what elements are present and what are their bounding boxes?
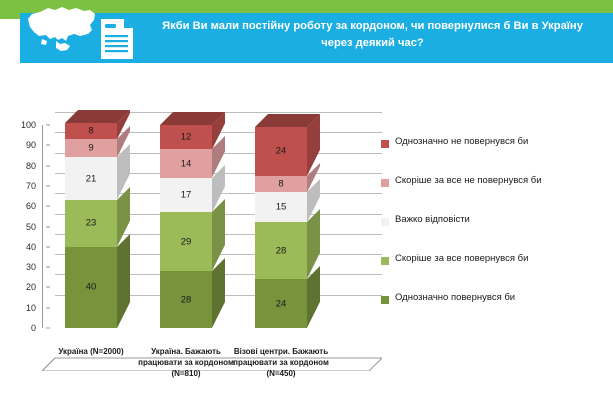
y-axis-tick-mark <box>46 226 50 227</box>
y-axis-tick-mark <box>46 307 50 308</box>
legend-color-swatch <box>381 179 389 187</box>
bar-segment[interactable]: 15 <box>255 192 307 222</box>
y-axis-tick-mark <box>46 267 50 268</box>
bar-segment-value: 8 <box>65 126 117 137</box>
x-axis-category-label: Україна (N=2000) <box>37 346 145 357</box>
ukraine-map-icon <box>22 3 100 57</box>
legend-color-swatch <box>381 257 389 265</box>
legend-color-swatch <box>381 296 389 304</box>
bar-segment[interactable]: 12 <box>160 125 212 149</box>
bar-segment[interactable]: 9 <box>65 139 117 157</box>
x-axis-category-label: Україна. Бажають працювати за кордоном (… <box>132 346 240 379</box>
y-axis-line <box>42 125 43 328</box>
document-icon <box>99 17 135 61</box>
legend-item[interactable]: Скоріше за все повернувся би <box>381 255 611 294</box>
bar-column[interactable]: 242815824 <box>255 70 307 328</box>
legend-item-label: Однозначно не повернувся би <box>395 136 528 147</box>
y-axis-tick-label: 20 <box>8 282 36 292</box>
y-axis-tick-mark <box>46 145 50 146</box>
bar-segment-value: 8 <box>255 178 307 189</box>
legend-item[interactable]: Скоріше за все не повернувся би <box>381 177 611 216</box>
y-axis-tick-mark <box>46 206 50 207</box>
legend-item[interactable]: Однозначно повернувся би <box>381 294 611 333</box>
bar-segment[interactable]: 8 <box>255 176 307 192</box>
bar-segment[interactable]: 14 <box>160 149 212 177</box>
bar-segment[interactable]: 24 <box>255 279 307 328</box>
bar-segment[interactable]: 28 <box>255 222 307 279</box>
y-axis-labels: 0102030405060708090100 <box>8 70 36 328</box>
bar-column[interactable]: 2829171412 <box>160 70 212 328</box>
y-axis-tick-label: 70 <box>8 181 36 191</box>
bar-segment[interactable]: 29 <box>160 212 212 271</box>
bar-segment-value: 15 <box>255 202 307 213</box>
legend-item-label: Скоріше за все не повернувся би <box>395 175 542 186</box>
y-axis-tick-label: 100 <box>8 120 36 130</box>
bar-segment-value: 23 <box>65 218 117 229</box>
legend-item[interactable]: Однозначно не повернувся би <box>381 138 611 177</box>
legend-item-label: Однозначно повернувся би <box>395 292 515 303</box>
y-axis-tick-label: 40 <box>8 242 36 252</box>
y-axis-tick-mark <box>46 287 50 288</box>
bar-segment-value: 14 <box>160 158 212 169</box>
bar-segment-value: 21 <box>65 173 117 184</box>
legend-item-label: Важко відповісти <box>395 214 470 225</box>
slide-root: Якби Ви мали постійну роботу за кордоном… <box>0 0 613 415</box>
bar-segment-value: 28 <box>160 294 212 305</box>
y-axis-tick-label: 80 <box>8 161 36 171</box>
chart-legend: Однозначно не повернувся биСкоріше за вс… <box>381 138 611 333</box>
y-axis-tick-label: 50 <box>8 222 36 232</box>
bar-segment[interactable]: 23 <box>65 200 117 247</box>
bar-segment-value: 9 <box>65 143 117 154</box>
bar-segment-value: 28 <box>255 245 307 256</box>
bar-segment-value: 40 <box>65 282 117 293</box>
bar-segment-value: 17 <box>160 190 212 201</box>
y-axis-tick-mark <box>46 125 50 126</box>
bar-segment[interactable]: 17 <box>160 178 212 213</box>
bar-column[interactable]: 40232198 <box>65 70 117 328</box>
bar-segment-side <box>212 258 225 328</box>
bar-segment[interactable]: 8 <box>65 123 117 139</box>
y-axis-tick-label: 90 <box>8 140 36 150</box>
legend-item[interactable]: Важко відповісти <box>381 216 611 255</box>
bar-segment-side <box>117 234 130 328</box>
bar-segment-value: 24 <box>255 146 307 157</box>
x-axis-category-label: Візові центри. Бажають працювати за корд… <box>227 346 335 379</box>
bar-segment[interactable]: 24 <box>255 127 307 176</box>
y-axis-tick-label: 10 <box>8 303 36 313</box>
bar-segment[interactable]: 21 <box>65 157 117 200</box>
bar-segment[interactable]: 40 <box>65 247 117 328</box>
legend-color-swatch <box>381 218 389 226</box>
bar-segment-side <box>307 266 320 328</box>
bar-segment-value: 12 <box>160 132 212 143</box>
y-axis-tick-label: 60 <box>8 201 36 211</box>
y-axis-tick-mark <box>46 165 50 166</box>
y-axis-tick-label: 0 <box>8 323 36 333</box>
legend-color-swatch <box>381 140 389 148</box>
page-title: Якби Ви мали постійну роботу за кордоном… <box>145 18 600 52</box>
bar-segment[interactable]: 28 <box>160 271 212 328</box>
bar-segment-value: 24 <box>255 298 307 309</box>
legend-item-label: Скоріше за все повернувся би <box>395 253 528 264</box>
y-axis-tick-mark <box>46 185 50 186</box>
y-axis-tick-mark <box>46 246 50 247</box>
y-axis-tick-label: 30 <box>8 262 36 272</box>
bar-segment-value: 29 <box>160 236 212 247</box>
